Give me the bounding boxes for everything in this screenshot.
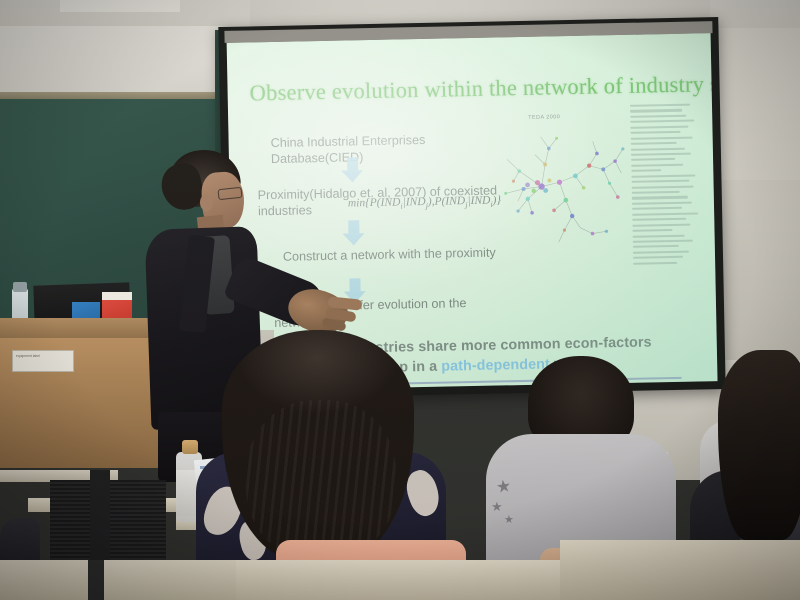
- network-graph-svg: [478, 113, 641, 256]
- hair-strand-texture: [246, 400, 396, 560]
- red-box-top: [102, 292, 132, 300]
- water-bottle-desk-cap: [182, 440, 198, 454]
- bullet-2-highlight: path-dependent: [441, 356, 550, 374]
- graph-legend: [630, 103, 705, 264]
- down-arrow-icon-1: [341, 157, 363, 182]
- podium-label-text: equipment label: [13, 351, 73, 361]
- student-dark-jacket-hair: [718, 350, 800, 540]
- star-graphic-icon: ★: [504, 512, 514, 529]
- formula-mid2: ),P(IND: [428, 195, 466, 208]
- slide-title: Observe evolution within the network of …: [249, 71, 699, 106]
- ceiling-panel-seam: [60, 0, 180, 12]
- presenter-ear: [200, 194, 213, 211]
- podium-equipment-label: equipment label: [12, 350, 74, 372]
- star-graphic-icon: ★: [495, 477, 512, 496]
- desk-surface-front: [0, 560, 250, 600]
- chair-leg: [88, 560, 104, 600]
- formula-lead: min{P(IND: [348, 196, 401, 209]
- industry-network-graph: TEDA 2000: [478, 113, 641, 256]
- proximity-formula: min{P(INDi|INDj),P(INDj|INDi)}: [348, 194, 501, 211]
- desk-surface-front: [236, 560, 566, 600]
- down-arrow-icon-2: [342, 220, 364, 245]
- water-bottle-cap: [13, 282, 27, 292]
- star-graphic-icon: ★: [491, 498, 503, 515]
- formula-mid1: |IND: [403, 196, 426, 208]
- graph-label: TEDA 2000: [528, 114, 560, 121]
- classroom-photo: Observe evolution within the network of …: [0, 0, 800, 600]
- flow-step-3: Construct a network with the proximity: [283, 245, 498, 265]
- desk-surface-front: [560, 540, 800, 600]
